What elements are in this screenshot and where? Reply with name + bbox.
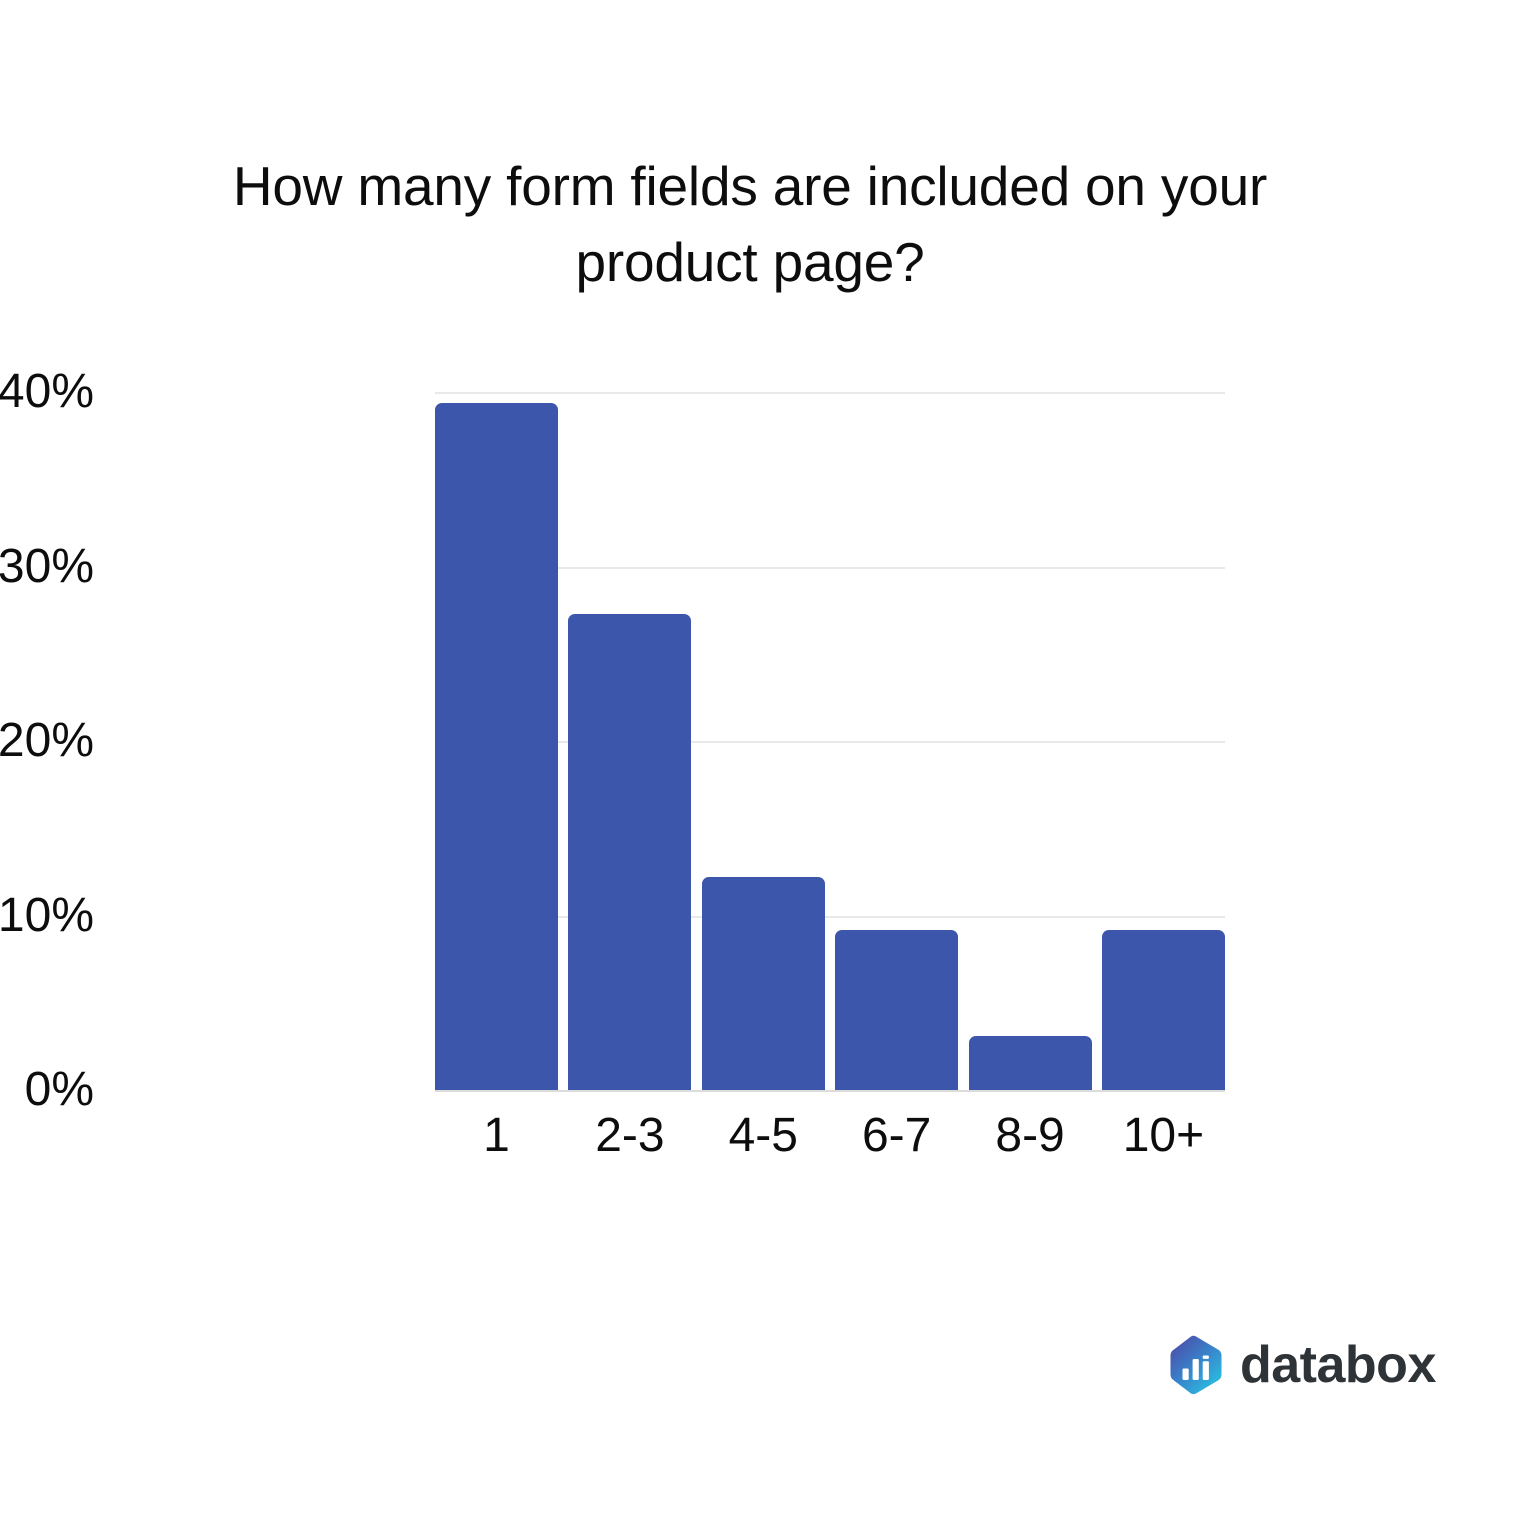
bar-group <box>435 392 1225 1090</box>
x-axis-labels: 1 2-3 4-5 6-7 8-9 10+ <box>435 1108 1225 1164</box>
ytick-label-0: 0% <box>0 1066 94 1114</box>
xtick-label-2: 2-3 <box>568 1108 691 1164</box>
databox-wordmark: databox <box>1240 1339 1436 1391</box>
bar-3[interactable] <box>702 877 825 1090</box>
chart-figure: How many form fields are included on you… <box>0 0 1536 1536</box>
bar-slot-1 <box>435 392 558 1090</box>
xtick-label-1: 1 <box>435 1108 558 1164</box>
bar-slot-5 <box>969 392 1092 1090</box>
ytick-label-20: 20% <box>0 717 94 765</box>
databox-logo: databox <box>1168 1335 1436 1395</box>
bar-slot-6 <box>1102 392 1225 1090</box>
bar-slot-2 <box>568 392 691 1090</box>
bar-1[interactable] <box>435 403 558 1091</box>
bar-4[interactable] <box>835 930 958 1091</box>
xtick-label-4: 6-7 <box>835 1108 958 1164</box>
bar-5[interactable] <box>969 1036 1092 1090</box>
ytick-label-40: 40% <box>0 368 94 416</box>
bar-2[interactable] <box>568 614 691 1090</box>
bar-slot-4 <box>835 392 958 1090</box>
bar-6[interactable] <box>1102 930 1225 1091</box>
xtick-label-5: 8-9 <box>969 1108 1092 1164</box>
chart-title: How many form fields are included on you… <box>228 148 1272 300</box>
ytick-label-30: 30% <box>0 543 94 591</box>
bar-slot-3 <box>702 392 825 1090</box>
xtick-label-6: 10+ <box>1102 1108 1225 1164</box>
xtick-label-3: 4-5 <box>702 1108 825 1164</box>
ytick-label-10: 10% <box>0 892 94 940</box>
plot-area: 40% 30% 20% 10% 0% <box>435 392 1225 1090</box>
axis-baseline <box>435 1090 1225 1092</box>
databox-hexagon-bar-chart-icon <box>1168 1335 1224 1395</box>
